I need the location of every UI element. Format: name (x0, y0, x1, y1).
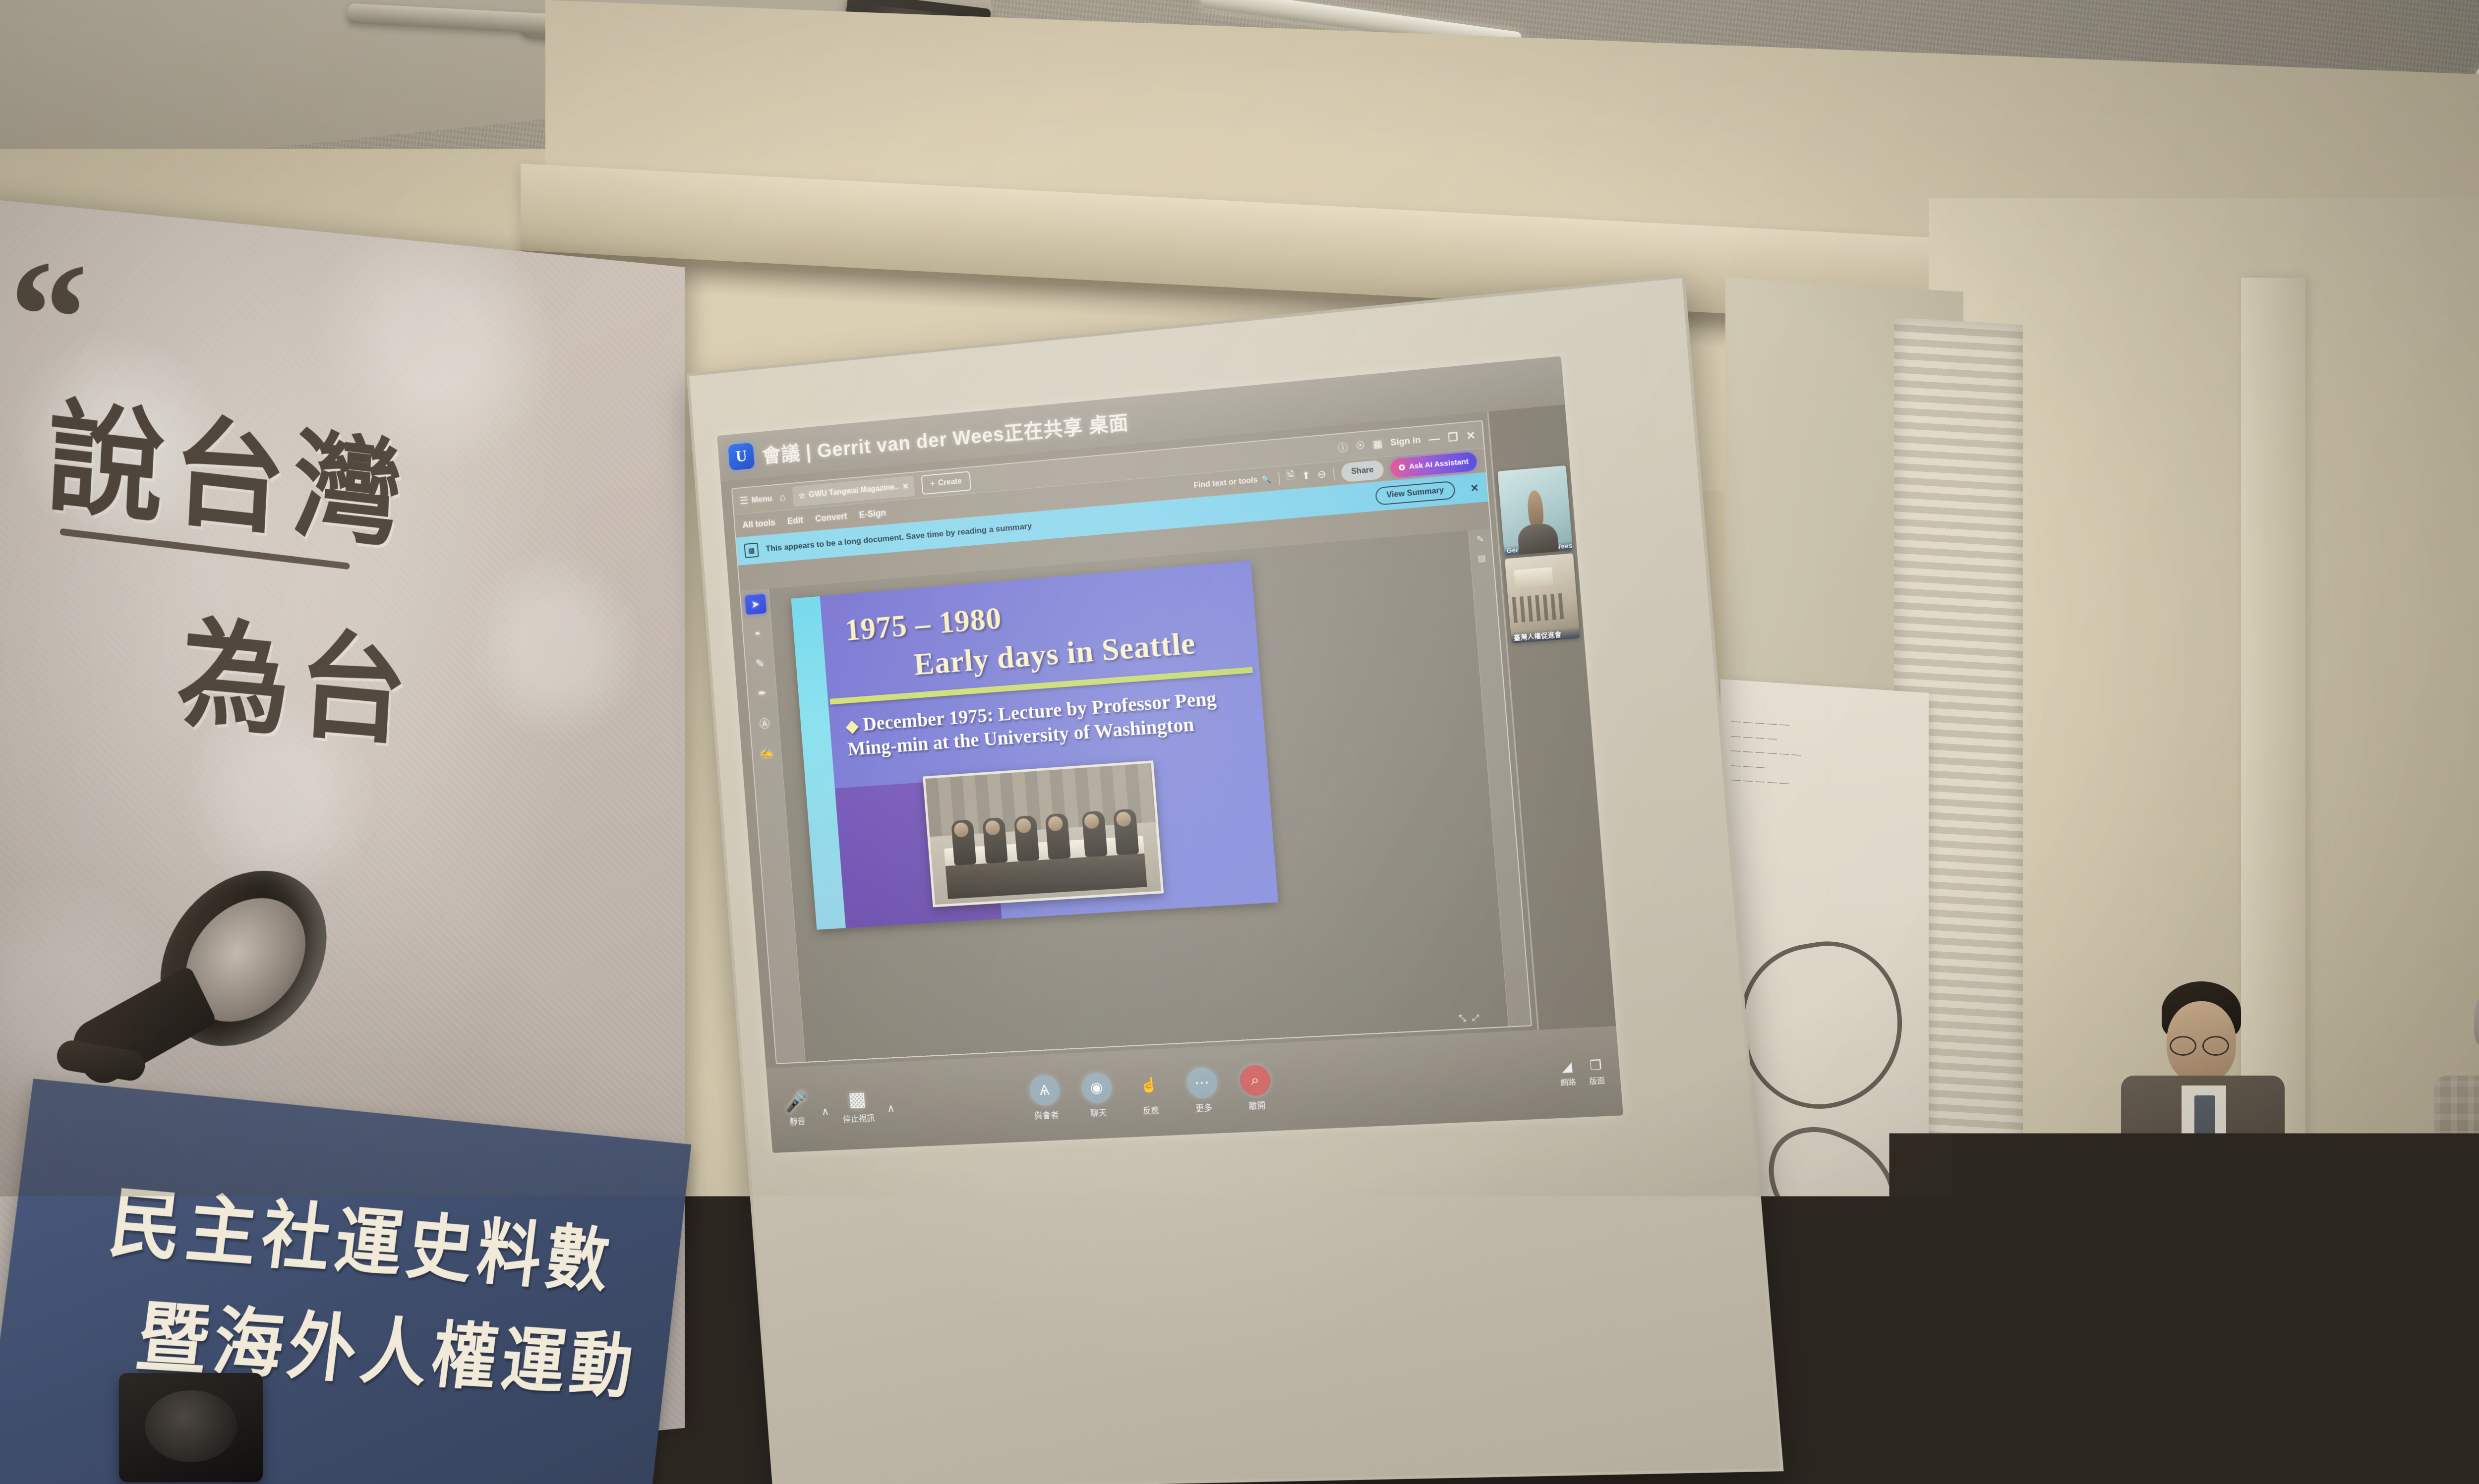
paper-cup-2 (2420, 1170, 2450, 1211)
layout-icon: ❐ (1589, 1057, 1602, 1074)
summary-icon: ▤ (744, 543, 759, 558)
nameplate-text: 黃志雄 教授 (2330, 1217, 2375, 1231)
select-tool[interactable]: ➤ (745, 594, 767, 615)
acrobat-body: ➤ ◓ ✎ ✒ Ⓐ ✍ (740, 528, 1531, 1063)
edit-button[interactable]: Edit (787, 515, 803, 526)
react-hand-icon: ☝ (1133, 1069, 1166, 1101)
more-options-button[interactable]: ⋯ 更多 (1185, 1067, 1220, 1114)
glasses-left-lens (2170, 1036, 2196, 1056)
app-grid-icon[interactable]: ▦ (1372, 437, 1383, 451)
star-icon[interactable]: ☆ (798, 491, 806, 501)
toolbar-divider-2 (1333, 467, 1335, 480)
participants-icon: Ѧ (1028, 1074, 1061, 1106)
banner-quote-mark: “ (9, 265, 82, 368)
pdf-document-area[interactable]: 1975 – 1980 Early days in Seattle ◆Decem… (769, 530, 1509, 1062)
view-summary-button[interactable]: View Summary (1375, 481, 1456, 506)
more-options-icon: ⋯ (1185, 1067, 1218, 1099)
network-icon: ◢ (1561, 1059, 1573, 1075)
participants-label: 與會者 (1034, 1108, 1059, 1121)
webex-logo-icon: U (728, 443, 755, 471)
slide-photograph (923, 760, 1164, 907)
organization-logo (2214, 1208, 2243, 1214)
convert-button[interactable]: Convert (815, 511, 848, 524)
participant-name: Gerrit van der Wees (1504, 541, 1573, 556)
leave-meeting-button[interactable]: ⌕ 離開 (1239, 1064, 1273, 1112)
hamburger-icon: ☰ (739, 495, 749, 508)
ai-sparkle-icon: ✪ (1398, 462, 1405, 472)
comment-tool[interactable]: ◓ (747, 624, 768, 644)
glasses-right-lens (2202, 1036, 2229, 1056)
webex-window[interactable]: U 會議 | Gerrit van der Wees正在共享 桌面 ☰ Menu (717, 356, 1623, 1153)
layout-button[interactable]: ❐ 版面 (1588, 1057, 1605, 1086)
chat-label: 聊天 (1090, 1105, 1107, 1118)
close-button[interactable]: ✕ (1466, 429, 1476, 443)
video-label: 停止視訊 (842, 1111, 875, 1124)
projection-screen: U 會議 | Gerrit van der Wees正在共享 桌面 ☰ Menu (686, 275, 1783, 1484)
share-button[interactable]: Share (1341, 459, 1385, 482)
leave-label: 離開 (1248, 1098, 1266, 1111)
minus-icon[interactable]: ⊖ (1317, 468, 1327, 481)
participant-tile[interactable]: 臺灣人權促進會 (1505, 553, 1580, 643)
webex-center-controls: Ѧ 與會者 ◉ 聊天 ☝ 反應 ⋯ 更多 (1028, 1064, 1273, 1121)
mute-button[interactable]: 🎤 靜音 (784, 1092, 810, 1127)
organization-logo (2383, 1209, 2412, 1216)
expand-icon[interactable]: ⤢ (1472, 1013, 1479, 1023)
pdf-slide: 1975 – 1980 Early days in Seattle ◆Decem… (791, 561, 1278, 930)
participant-name: 臺灣人權促進會 (1511, 627, 1580, 643)
minimize-button[interactable]: — (1428, 432, 1441, 446)
chat-button[interactable]: ◉ 聊天 (1080, 1072, 1114, 1119)
webex-stage: ☰ Menu ⌂ ☆ GWU Tangwai Magazine.. ✕ (720, 404, 1616, 1069)
ai-button-label: Ask AI Assistant (1409, 457, 1469, 471)
layout-label: 版面 (1589, 1075, 1605, 1086)
poster-text: — — — — —— — — —— — — — — —— — —— — — — … (1731, 699, 1921, 799)
create-button[interactable]: + Create (921, 471, 971, 495)
table-skirt (2057, 1266, 2479, 1383)
hair (2474, 976, 2479, 1056)
network-status[interactable]: ◢ 網路 (1558, 1059, 1576, 1088)
floor-speaker (119, 1373, 263, 1482)
sign-in-button[interactable]: Sign in (1390, 435, 1421, 448)
shared-screen-area: ☰ Menu ⌂ ☆ GWU Tangwai Magazine.. ✕ (720, 411, 1537, 1068)
home-icon[interactable]: ⌂ (779, 491, 786, 503)
diamond-bullet-icon: ◆ (845, 717, 859, 736)
chat-icon: ◉ (1080, 1072, 1113, 1103)
mute-label: 靜音 (789, 1114, 806, 1127)
all-tools-button[interactable]: All tools (742, 517, 776, 530)
highlight-tool[interactable]: ✎ (749, 653, 771, 674)
video-camera-icon: ▩ (847, 1089, 867, 1109)
create-label: Create (938, 477, 962, 488)
exhibition-banner: “ 說台灣 為台 民主社運史料數 暨海外人權運動 (0, 198, 685, 1484)
slide-years: 1975 – 1980 (844, 600, 1003, 648)
network-label: 網路 (1560, 1076, 1576, 1087)
page-view-controls: ⤡ ⤢ (1459, 1013, 1479, 1024)
mic-options-chevron-icon[interactable]: ∧ (821, 1105, 830, 1126)
hang-up-icon: ⌕ (1239, 1064, 1272, 1096)
slide-left-accent (791, 596, 845, 930)
video-options-chevron-icon[interactable]: ∧ (886, 1102, 895, 1123)
esign-button[interactable]: E-Sign (859, 508, 886, 520)
banner-blue-panel: 民主社運史料數 暨海外人權運動 (0, 1079, 691, 1484)
add-text-tool[interactable]: Ⓐ (754, 713, 775, 734)
banner-headline-2: 為台 (174, 575, 419, 768)
webex-left-controls: 🎤 靜音 ∧ ▩ 停止視訊 ∧ (768, 1087, 896, 1128)
bell-icon[interactable]: ☉ (1356, 439, 1365, 452)
help-icon[interactable]: ⓘ (1337, 439, 1349, 455)
save-icon[interactable]: 🗎 (1286, 468, 1296, 486)
banner-close-icon[interactable]: ✕ (1463, 481, 1479, 495)
screen-surface: U 會議 | Gerrit van der Wees正在共享 桌面 ☰ Menu (686, 275, 1783, 1484)
maximize-button[interactable]: ❐ (1448, 430, 1459, 444)
video-button[interactable]: ▩ 停止視訊 (840, 1088, 875, 1124)
poster-scribble-1 (1724, 931, 1920, 1119)
participant-tile[interactable]: Gerrit van der Wees (1498, 465, 1573, 556)
react-button[interactable]: ☝ 反應 (1133, 1069, 1167, 1116)
menu-button[interactable]: ☰ Menu (739, 492, 772, 507)
react-label: 反應 (1142, 1103, 1160, 1116)
nameplate: Dr. Gerrit van der Wees (2112, 1196, 2251, 1240)
search-input[interactable]: Find text or tools 🔍 (1193, 474, 1272, 491)
nameplate: 黃志雄 教授 (2285, 1198, 2420, 1243)
fit-page-icon[interactable]: ⤡ (1459, 1013, 1467, 1024)
webex-right-status: ◢ 網路 ❐ 版面 (1558, 1056, 1621, 1087)
search-icon[interactable]: 🔍 (1261, 474, 1272, 485)
upload-icon[interactable]: ⬆ (1301, 469, 1311, 483)
edit-panel-icon[interactable]: ✎ (1476, 534, 1484, 545)
more-label: 更多 (1195, 1100, 1213, 1113)
comment-panel-icon[interactable]: ▧ (1477, 553, 1486, 564)
room-scene: — — — — —— — — —— — — — — —— — —— — — — … (0, 0, 2479, 1484)
document-tab-label: GWU Tangwai Magazine.. (809, 483, 899, 500)
menu-label: Menu (751, 494, 772, 505)
sign-tool[interactable]: ✍ (756, 742, 778, 763)
plus-icon: + (930, 479, 935, 488)
acrobat-window[interactable]: ☰ Menu ⌂ ☆ GWU Tangwai Magazine.. ✕ (731, 420, 1532, 1064)
nameplate-text: Dr. Gerrit van der Wees (2138, 1216, 2225, 1228)
microphone-icon: 🎤 (784, 1092, 809, 1112)
find-label: Find text or tools (1193, 476, 1258, 490)
poster-scribble-2 (1751, 1110, 1914, 1264)
toolbar-divider (1278, 472, 1280, 485)
close-icon[interactable]: ✕ (902, 481, 909, 492)
participants-button[interactable]: Ѧ 與會者 (1028, 1074, 1062, 1121)
draw-tool[interactable]: ✒ (751, 683, 773, 704)
